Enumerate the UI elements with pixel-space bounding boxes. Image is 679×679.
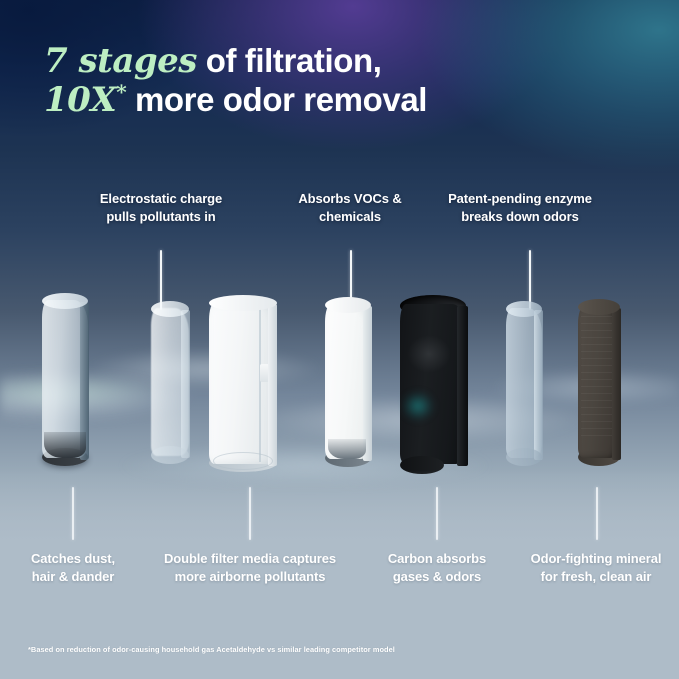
top-label-enzyme: Patent-pending enzyme breaks down odors — [440, 190, 600, 225]
infographic-canvas: 7 stages of filtration, 10X* more odor r… — [0, 0, 679, 679]
connector-line-double-filter — [249, 487, 251, 540]
filter-panel-hepa-media — [325, 304, 371, 459]
top-label-vocs: Absorbs VOCs & chemicals — [290, 190, 410, 225]
top-label-vocs-line1: Absorbs VOCs & — [290, 190, 410, 208]
filter-carbon-texture-5 — [406, 324, 452, 384]
bottom-label-carbon-line2: gases & odors — [376, 568, 498, 586]
headline-accent-stages: 7 stages — [44, 41, 197, 81]
top-label-vocs-line2: chemicals — [290, 208, 410, 226]
headline: 7 stages of filtration, 10X* more odor r… — [44, 42, 644, 121]
filter-stack — [0, 300, 679, 490]
footnote-disclaimer: *Based on reduction of odor-causing hous… — [28, 645, 395, 654]
bottom-label-double-filter: Double filter media captures more airbor… — [160, 550, 340, 585]
filter-side-2 — [181, 310, 190, 458]
headline-line-2-rest: more odor removal — [126, 81, 427, 118]
filter-panel-carbon-filter — [400, 304, 466, 464]
headline-accent-10x: 10X — [44, 80, 116, 120]
filter-dark-base-4 — [328, 439, 366, 459]
filter-panel-double-filter-media — [209, 302, 277, 464]
filter-base-ring-3 — [213, 452, 273, 470]
filter-side-3 — [268, 304, 277, 466]
filter-panel-pre-filter-mesh — [42, 300, 88, 458]
headline-line-2: 10X* more odor removal — [44, 81, 644, 120]
bottom-label-dust-line1: Catches dust, — [18, 550, 128, 568]
filter-top-ellipse-6 — [506, 301, 542, 317]
filter-side-6 — [534, 310, 543, 460]
filter-side-5 — [457, 306, 468, 466]
filter-top-ellipse-4 — [325, 297, 371, 313]
filter-top-ellipse-1 — [42, 293, 88, 309]
filter-side-4 — [363, 306, 372, 461]
bottom-label-mineral-line1: Odor-fighting mineral — [522, 550, 670, 568]
bottom-label-carbon: Carbon absorbs gases & odors — [376, 550, 498, 585]
bottom-label-double-filter-line2: more airborne pollutants — [160, 568, 340, 586]
bottom-label-mineral-line2: for fresh, clean air — [522, 568, 670, 586]
filter-base-ellipse-2 — [151, 446, 189, 464]
top-label-electrostatic: Electrostatic charge pulls pollutants in — [80, 190, 242, 225]
filter-dark-base-1 — [44, 432, 86, 458]
bottom-label-double-filter-line1: Double filter media captures — [160, 550, 340, 568]
filter-teal-glow-5 — [402, 382, 442, 430]
connector-line-mineral — [596, 487, 598, 540]
connector-line-carbon — [436, 487, 438, 540]
connector-line-dust — [72, 487, 74, 540]
filter-panel-enzyme-layer — [506, 308, 542, 458]
filter-top-ellipse-3 — [209, 295, 277, 311]
top-label-electrostatic-line2: pulls pollutants in — [80, 208, 242, 226]
top-label-electrostatic-line1: Electrostatic charge — [80, 190, 242, 208]
bottom-label-mineral: Odor-fighting mineral for fresh, clean a… — [522, 550, 670, 585]
headline-line-1-rest: of filtration, — [197, 42, 382, 79]
filter-top-ellipse-7 — [578, 299, 620, 315]
top-label-enzyme-line1: Patent-pending enzyme — [440, 190, 600, 208]
filter-panel-electrostatic-film — [151, 308, 189, 456]
filter-face-3 — [209, 302, 277, 464]
top-label-enzyme-line2: breaks down odors — [440, 208, 600, 226]
filter-side-7 — [612, 308, 621, 460]
bottom-label-dust: Catches dust, hair & dander — [18, 550, 128, 585]
bottom-label-carbon-line1: Carbon absorbs — [376, 550, 498, 568]
filter-mineral-texture-7 — [581, 316, 615, 436]
headline-line-1: 7 stages of filtration, — [44, 42, 644, 81]
filter-base-ellipse-6 — [506, 448, 542, 466]
headline-asterisk: * — [116, 80, 126, 104]
filter-panel-mineral-layer — [578, 306, 620, 458]
filter-top-ellipse-2 — [151, 301, 189, 317]
bottom-label-dust-line2: hair & dander — [18, 568, 128, 586]
